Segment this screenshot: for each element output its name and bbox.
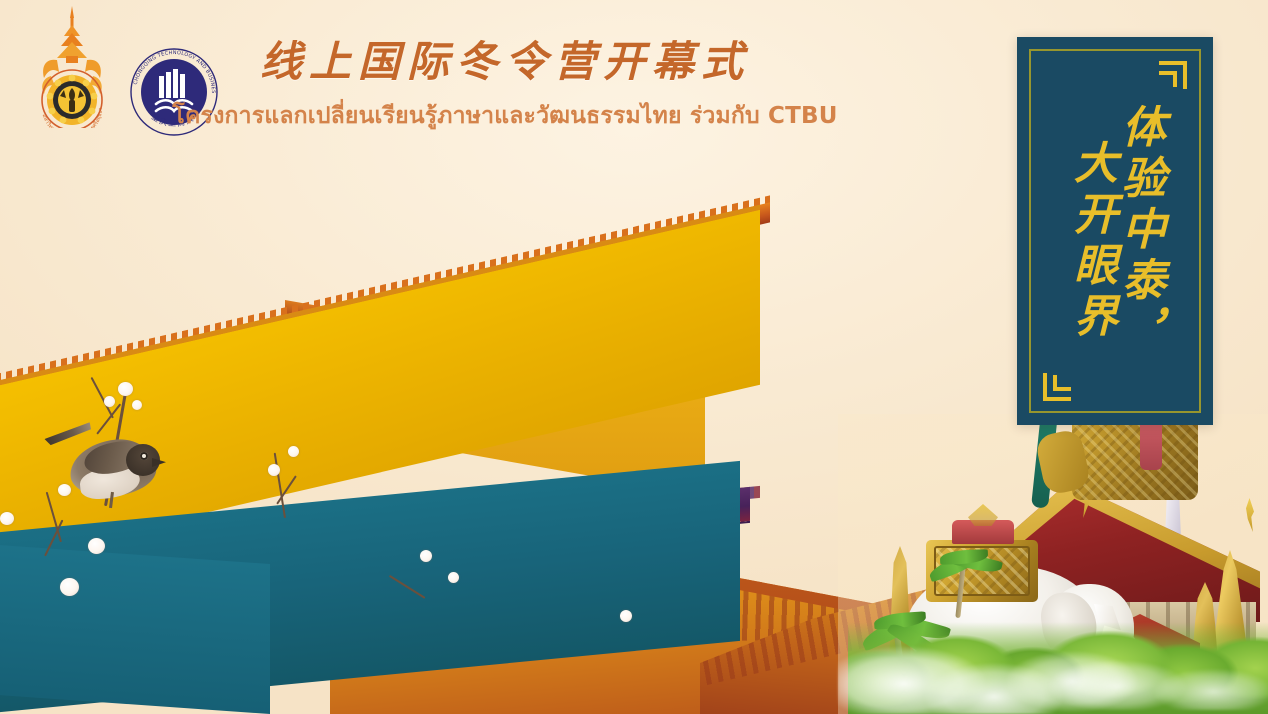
cn-eave-bracket-band xyxy=(0,487,750,596)
palm-frond xyxy=(951,550,1003,576)
plum-blossom xyxy=(0,512,14,525)
cn-parasol xyxy=(1080,616,1162,642)
cn-main-roof-ridge xyxy=(0,202,770,414)
plum-branch-right xyxy=(274,453,286,519)
plum-blossom xyxy=(104,396,115,407)
palm-frond xyxy=(859,612,921,652)
elephant-howdah-ornament xyxy=(934,546,1030,596)
cn-pavilion xyxy=(1086,648,1178,696)
cn-main-roof xyxy=(0,205,760,574)
elephant-howdah xyxy=(926,540,1038,602)
thai-chofa-finial xyxy=(1082,484,1090,518)
plum-branch-mid xyxy=(389,575,426,599)
thai-chofa-finial xyxy=(1168,458,1176,492)
cn-right-roof-tiles xyxy=(700,544,1030,714)
elephant-trunk xyxy=(1094,604,1124,708)
plum-blossom xyxy=(88,538,105,554)
seagull-icon xyxy=(1062,470,1104,484)
palm-frond xyxy=(940,549,988,565)
elephant-body xyxy=(906,566,1098,676)
thai-temple-columns xyxy=(986,602,1256,660)
cn-ridge-beast xyxy=(600,516,636,546)
palm-trunk xyxy=(894,630,909,704)
sparrow-leg xyxy=(109,492,114,508)
cn-far-roof-tiles xyxy=(0,504,420,654)
thai-foliage-mid xyxy=(860,644,1120,714)
plum-branch-twig xyxy=(96,403,121,434)
plum-branch-twig xyxy=(91,377,114,419)
thai-mist-right xyxy=(1048,640,1268,710)
plum-blossom xyxy=(268,464,280,476)
yaksha-arm xyxy=(1034,428,1091,496)
sparrow-body xyxy=(67,436,158,501)
cn-gable-panel xyxy=(320,304,580,414)
thai-golden-prang xyxy=(1198,550,1262,670)
cn-mid-roof-tiles xyxy=(330,514,950,714)
sparrow-belly xyxy=(79,465,142,501)
palm-frond xyxy=(891,612,951,643)
palm-frond xyxy=(927,551,981,583)
cn-palace-wall xyxy=(0,461,740,714)
thai-mist xyxy=(838,606,1138,714)
plum-blossom xyxy=(420,550,432,562)
cn-roof-comb xyxy=(0,195,770,398)
cn-upper-roof-ridge xyxy=(285,300,715,392)
plum-blossom xyxy=(60,578,79,596)
cn-palace-wall-side xyxy=(0,543,270,714)
thai-chofa-finial xyxy=(1246,498,1254,532)
thai-temple-body xyxy=(986,602,1256,660)
elephant-head xyxy=(1048,584,1134,670)
cn-mid-roof-ridge xyxy=(330,514,950,714)
elephant-crown xyxy=(952,520,1014,544)
cn-roof-finial xyxy=(480,276,522,316)
vertical-banner: 体验中泰， 大开眼界 xyxy=(1017,37,1213,425)
thai-foliage-bank xyxy=(848,622,1268,714)
plum-blossom xyxy=(448,572,459,583)
elephant-crown-spire xyxy=(968,504,998,526)
thai-white-chedi xyxy=(1158,448,1188,534)
thai-temple-roof-gold-trim xyxy=(970,482,1260,622)
elephant-ear xyxy=(1038,589,1100,660)
cn-eave-dentils xyxy=(0,486,760,574)
elephant-leg xyxy=(1064,664,1098,714)
cn-far-roof xyxy=(0,504,420,654)
palm-frond xyxy=(874,611,927,630)
thai-guardian-pillar xyxy=(1182,582,1228,674)
cn-mid-roof xyxy=(330,514,950,714)
thai-guardian-pillar xyxy=(880,546,920,666)
plum-blossom xyxy=(132,400,142,410)
thai-sky-glow xyxy=(838,414,1268,714)
plum-branch-right-twig xyxy=(276,475,297,504)
elephant-leg xyxy=(976,664,1010,714)
cn-upper-roof xyxy=(285,302,705,496)
plum-branch-main xyxy=(104,388,128,507)
sparrow-wing xyxy=(82,438,142,477)
page-title: 线上国际冬令营开幕式 xyxy=(0,38,1010,86)
elephant-leg xyxy=(1028,662,1062,714)
elephant-leg xyxy=(930,662,964,714)
plum-blossom xyxy=(118,382,133,396)
palm-trunk xyxy=(955,566,965,618)
yaksha-baton xyxy=(1031,411,1058,508)
vertical-banner-text: 体验中泰， 大开眼界 xyxy=(1035,59,1195,403)
thai-guardian-pillar xyxy=(962,522,996,618)
sparrow-head xyxy=(126,444,160,476)
plum-branch-lower xyxy=(46,492,62,543)
cn-gable-trim xyxy=(316,300,588,418)
plum-blossom xyxy=(288,446,299,457)
thai-shrine-columns xyxy=(1086,658,1194,688)
seagull-icon xyxy=(1122,452,1182,470)
palm-frond xyxy=(887,619,942,663)
sparrow-eye xyxy=(140,452,148,460)
sparrow-tail xyxy=(43,414,94,450)
cn-roof-finial-knob xyxy=(489,269,502,284)
cn-parasol-pole xyxy=(1118,620,1121,654)
banner-column-right: 体验中泰， xyxy=(1117,59,1161,403)
poster-canvas: มหาวิทยาลัยราชภัฏพระนครศรีอยุธยา xyxy=(0,0,1268,714)
title-block: 线上国际冬令营开幕式 โครงการแลกเปลี่ยนเรียนรู้ภาษา… xyxy=(0,38,1010,134)
thai-shrine-roof xyxy=(1080,614,1200,670)
sparrow-beak xyxy=(152,458,166,467)
thai-temple-roof xyxy=(970,482,1260,622)
plum-branch-lower-twig xyxy=(44,520,63,557)
plum-blossom xyxy=(620,610,632,622)
cn-gable-dark-panel xyxy=(430,306,580,414)
plum-blossom xyxy=(58,484,71,496)
thai-shrine-body xyxy=(1086,658,1194,688)
cn-right-roof xyxy=(700,544,1030,714)
page-subtitle: โครงการแลกเปลี่ยนเรียนรู้ภาษาและวัฒนธรรม… xyxy=(0,98,1010,134)
banner-column-left: 大开眼界 xyxy=(1069,59,1113,403)
elephant-tusk xyxy=(1101,626,1137,647)
